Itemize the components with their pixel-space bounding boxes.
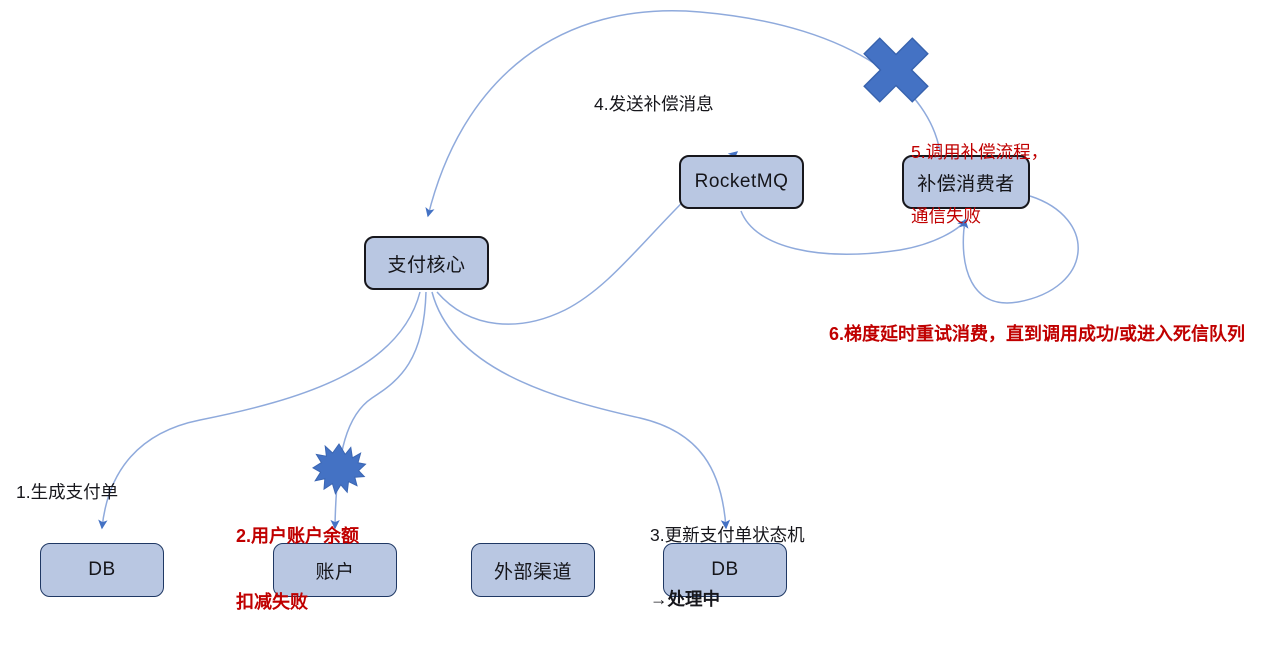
step-1-label: 1.生成支付单 (16, 482, 118, 503)
step-2-label: 2.用户账户余额 扣减失败 (236, 482, 359, 658)
step-3-line-2: →处理中 (650, 589, 805, 610)
node-external-channel[interactable]: 外部渠道 (471, 543, 595, 597)
diagram-canvas: 支付核心 RocketMQ 补偿消费者 DB 账户 外部渠道 DB 1.生成支付… (0, 0, 1280, 629)
step-5-line-1: 5.调用补偿流程， (911, 142, 1048, 163)
step-4-label: 4.发送补偿消息 (594, 94, 714, 115)
node-pay-core[interactable]: 支付核心 (364, 236, 489, 290)
node-label: DB (88, 559, 115, 581)
node-label: RocketMQ (695, 171, 789, 193)
step-2-line-2: 扣减失败 (236, 592, 359, 614)
node-db-left[interactable]: DB (40, 543, 164, 597)
node-rocketmq[interactable]: RocketMQ (679, 155, 804, 209)
step-6-label: 6.梯度延时重试消费，直到调用成功/或进入死信队列 (829, 324, 1245, 346)
step-3-label: 3.更新支付单状态机 →处理中 (650, 482, 805, 653)
node-label: 外部渠道 (494, 557, 572, 584)
step-5-line-2: 通信失败 (911, 206, 1048, 227)
node-label: 支付核心 (387, 250, 465, 277)
step-2-line-1: 2.用户账户余额 (236, 526, 359, 548)
step-3-line-1: 3.更新支付单状态机 (650, 525, 805, 546)
step-5-label: 5.调用补偿流程， 通信失败 (911, 99, 1048, 270)
